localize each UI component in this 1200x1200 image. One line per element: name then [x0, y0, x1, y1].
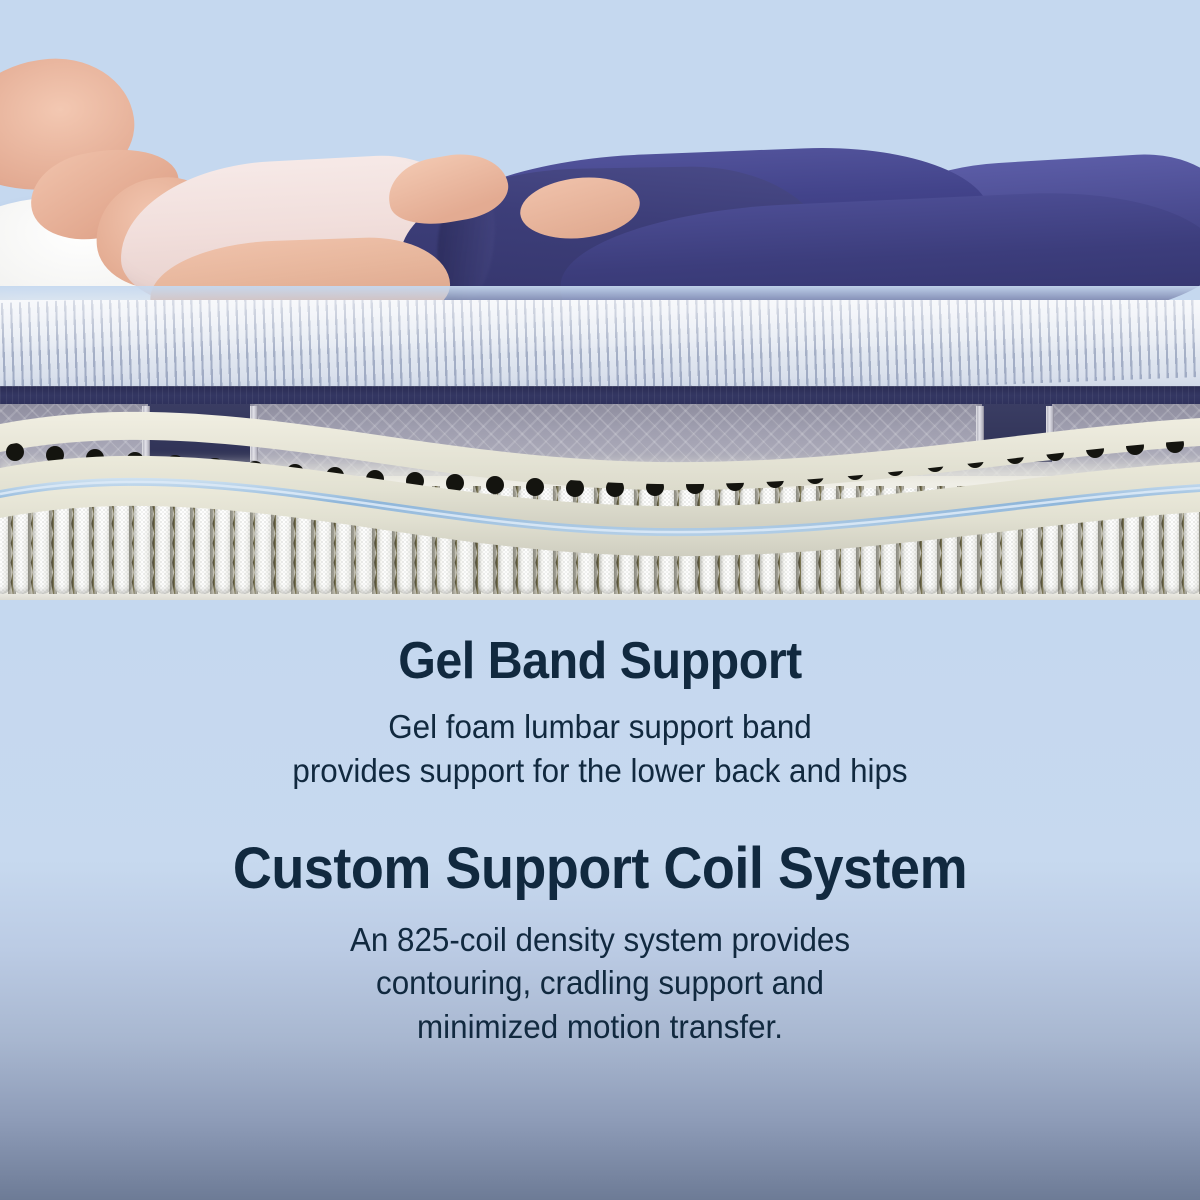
feature-2-description: An 825-coil density system provides cont…: [30, 918, 1170, 1049]
feature-1-description: Gel foam lumbar support band provides su…: [30, 705, 1170, 792]
feature-copy: Gel Band Support Gel foam lumbar support…: [0, 604, 1200, 1200]
marketing-panel: Gel Band Support Gel foam lumbar support…: [0, 0, 1200, 1200]
feature-1-title: Gel Band Support: [42, 634, 1158, 689]
feature-2-description-line-3: minimized motion transfer.: [30, 1005, 1170, 1049]
feature-gel-band-support: Gel Band Support Gel foam lumbar support…: [0, 604, 1200, 792]
feature-custom-support-coil-system: Custom Support Coil System An 825-coil d…: [0, 792, 1200, 1048]
feature-2-description-line-2: contouring, cradling support and: [30, 961, 1170, 1005]
feature-2-description-line-1: An 825-coil density system provides: [30, 918, 1170, 962]
feature-1-description-line-2: provides support for the lower back and …: [30, 749, 1170, 793]
mattress-hero-photo: [0, 0, 1200, 604]
feature-2-title: Custom Support Coil System: [42, 838, 1158, 899]
foam-and-gel-band-layers: [0, 0, 1200, 604]
feature-1-description-line-1: Gel foam lumbar support band: [30, 705, 1170, 749]
